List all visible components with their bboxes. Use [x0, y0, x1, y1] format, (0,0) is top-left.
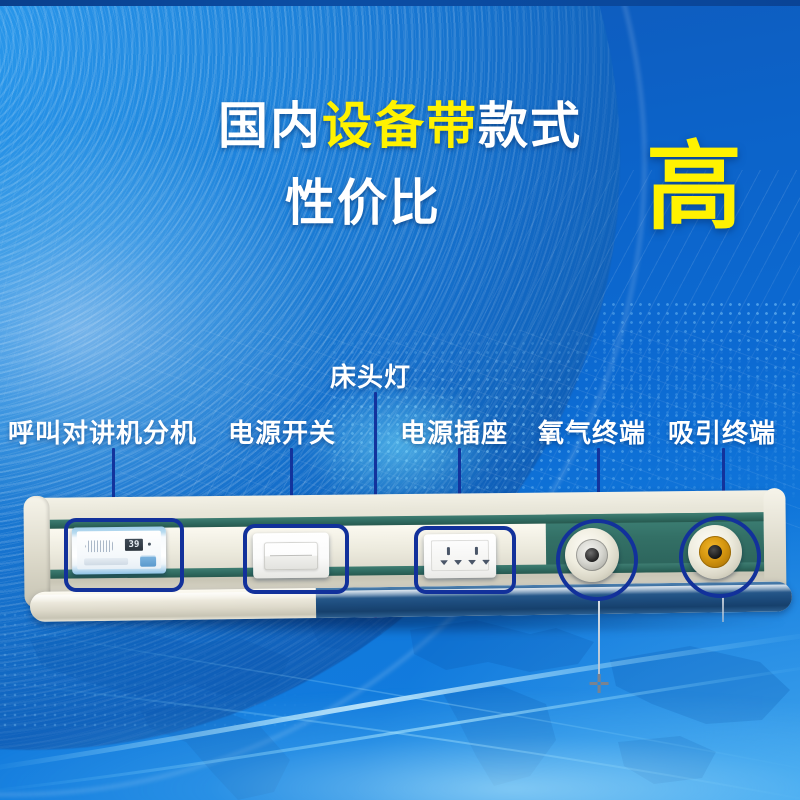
promo-banner: 国内设备带款式 性价比 高 呼叫对讲机分机 电源开关 床头灯 电源插座 氧气终端…: [0, 0, 800, 800]
highlight-box-intercom: [64, 518, 184, 592]
callout-label-oxygen: 氧气终端: [538, 413, 646, 450]
halftone-dots-right: [600, 300, 800, 500]
headline-subtext: 性价比: [285, 174, 441, 232]
headline-emphasis-char: 高: [646, 139, 742, 235]
headline-part-1: 国内: [218, 97, 322, 155]
highlight-circle-suction: [679, 516, 761, 598]
callout-label-socket: 电源插座: [400, 413, 508, 450]
pull-cord-line[interactable]: [598, 600, 600, 678]
callout-label-intercom: 呼叫对讲机分机: [8, 413, 197, 450]
callout-label-bedlamp: 床头灯: [330, 357, 411, 394]
highlight-box-switch: [243, 524, 349, 594]
highlight-circle-oxygen: [556, 519, 638, 601]
callout-label-switch: 电源开关: [228, 413, 336, 450]
bottom-glow: [0, 690, 800, 800]
pull-cord-line-secondary: [722, 596, 724, 622]
headline-part-2: 设备带: [322, 97, 478, 155]
headline-part-3: 款式: [478, 97, 582, 155]
highlight-box-socket: [414, 526, 516, 594]
pull-cord-handle-icon[interactable]: ✛: [586, 672, 612, 698]
callout-label-suction: 吸引终端: [668, 413, 776, 450]
headline-block: 国内设备带款式 性价比 高: [0, 0, 800, 250]
